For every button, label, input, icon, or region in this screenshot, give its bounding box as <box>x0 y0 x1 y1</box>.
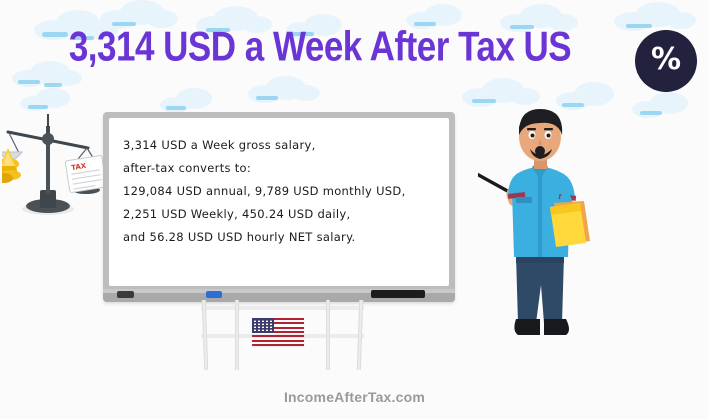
board-line-4: 2,251 USD Weekly, 450.24 USD daily, <box>123 203 439 226</box>
eraser-icon <box>117 291 134 298</box>
board-line-5: and 56.28 USD USD hourly NET salary. <box>123 226 439 249</box>
whiteboard-text: 3,314 USD a Week gross salary, after-tax… <box>123 134 439 249</box>
site-footer: IncomeAfterTax.com <box>0 389 709 405</box>
black-marker-icon <box>371 290 425 298</box>
board-line-2: after-tax converts to: <box>123 157 439 180</box>
percent-icon: % <box>635 30 697 92</box>
cloud-decoration <box>160 88 226 114</box>
poster-canvas: 3,314 USD a Week After Tax US % <box>0 0 709 419</box>
stand-leg <box>326 300 330 370</box>
board-line-1: 3,314 USD a Week gross salary, <box>123 134 439 157</box>
stand-leg <box>235 300 239 370</box>
percent-badge: % <box>635 30 697 92</box>
whiteboard-stand <box>185 300 380 372</box>
whiteboard: 3,314 USD a Week gross salary, after-tax… <box>103 112 455 302</box>
shoe-left <box>514 319 540 335</box>
board-line-3: 129,084 USD annual, 9,789 USD monthly US… <box>123 180 439 203</box>
balance-scale-icon: TAX <box>2 108 114 218</box>
cloud-decoration <box>632 92 702 120</box>
stand-crossbar <box>201 306 364 310</box>
folder-icon <box>550 201 590 247</box>
cloud-decoration <box>248 76 322 104</box>
name-badge <box>516 197 532 203</box>
shoe-right <box>544 319 569 335</box>
us-flag-icon <box>252 318 304 346</box>
flag-canton <box>252 318 274 333</box>
page-title: 3,314 USD a Week After Tax US <box>0 24 640 71</box>
teacher-figure <box>478 105 606 355</box>
cloud-decoration <box>462 78 542 108</box>
trousers <box>516 255 564 323</box>
blue-marker-icon <box>206 291 222 298</box>
